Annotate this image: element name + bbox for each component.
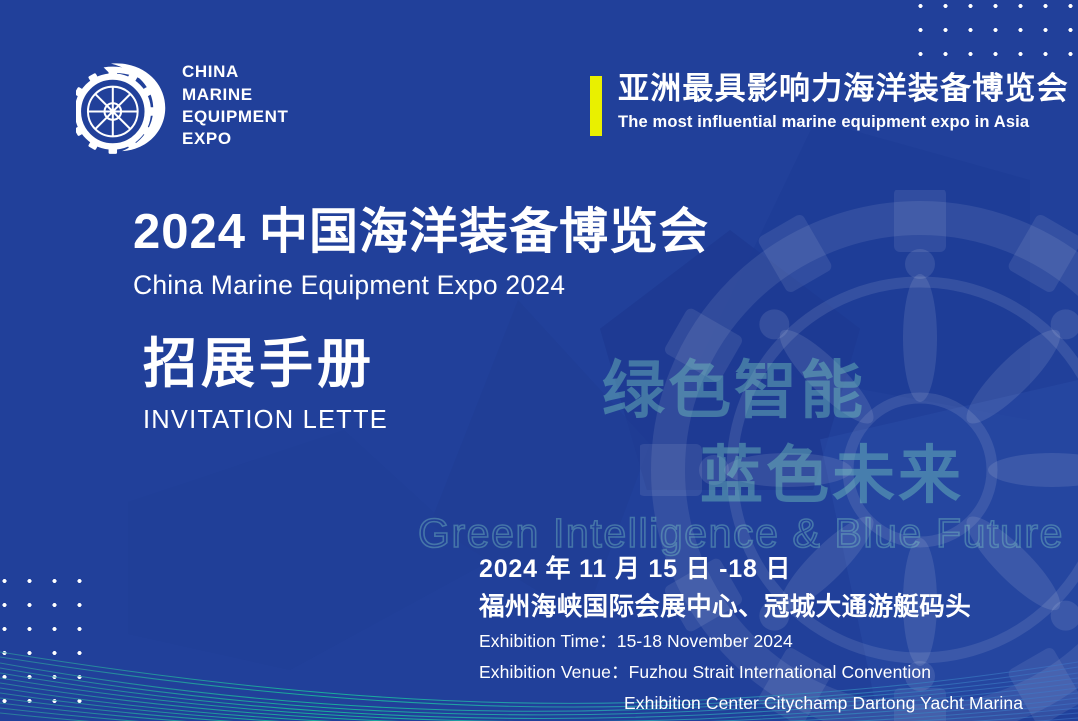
- subtitle-chinese: 招展手册: [143, 335, 388, 394]
- logo-line-expo: EXPO: [182, 128, 288, 150]
- accent-bar: [590, 76, 602, 136]
- event-venue-english-line-1: Exhibition Venue：Fuzhou Strait Internati…: [479, 659, 1039, 686]
- main-title-year: 2024: [133, 205, 246, 259]
- subtitle-english: INVITATION LETTE: [143, 406, 388, 435]
- background-polygon-shape: [128, 430, 488, 670]
- event-info-block: 2024 年 11 月 15 日 -18 日 福州海峡国际会展中心、冠城大通游艇…: [479, 553, 1039, 717]
- slogan-chinese-line-2: 蓝色未来: [700, 425, 964, 516]
- slogan-chinese-line-1: 绿色智能: [602, 340, 866, 431]
- tagline-english: The most influential marine equipment ex…: [618, 113, 1069, 132]
- main-title-block: 2024中国海洋装备博览会 China Marine Equipment Exp…: [133, 205, 709, 301]
- main-title-chinese: 2024中国海洋装备博览会: [133, 205, 709, 260]
- main-title-english: China Marine Equipment Expo 2024: [133, 270, 709, 301]
- expo-logo: CHINA MARINE EQUIPMENT EXPO: [76, 58, 288, 154]
- slogan-english: Green Intelligence & Blue Future: [418, 510, 1064, 557]
- event-venue-chinese: 福州海峡国际会展中心、冠城大通游艇码头: [479, 591, 1039, 624]
- logo-line-marine: MARINE: [182, 84, 288, 106]
- poster-header: CHINA MARINE EQUIPMENT EXPO 亚洲最具影响力海洋装备博…: [0, 0, 1078, 175]
- dot-grid-pattern-bottom-left: [0, 569, 84, 721]
- subtitle-block: 招展手册 INVITATION LETTE: [143, 335, 388, 435]
- logo-line-china: CHINA: [182, 61, 288, 83]
- main-title-chinese-text: 中国海洋装备博览会: [259, 205, 709, 259]
- poster-canvas: CHINA MARINE EQUIPMENT EXPO 亚洲最具影响力海洋装备博…: [0, 0, 1078, 721]
- expo-logo-wordmark: CHINA MARINE EQUIPMENT EXPO: [182, 61, 288, 151]
- event-time-english: Exhibition Time：15-18 November 2024: [479, 628, 1039, 655]
- logo-line-equipment: EQUIPMENT: [182, 106, 288, 128]
- gear-ship-wheel-globe-logo-icon: [76, 58, 168, 154]
- tagline-chinese: 亚洲最具影响力海洋装备博览会: [618, 72, 1069, 107]
- event-date-chinese: 2024 年 11 月 15 日 -18 日: [479, 553, 1039, 585]
- event-venue-english-line-2: Exhibition Center Citychamp Dartong Yach…: [479, 690, 1039, 717]
- tagline-block: 亚洲最具影响力海洋装备博览会 The most influential mari…: [590, 72, 1069, 136]
